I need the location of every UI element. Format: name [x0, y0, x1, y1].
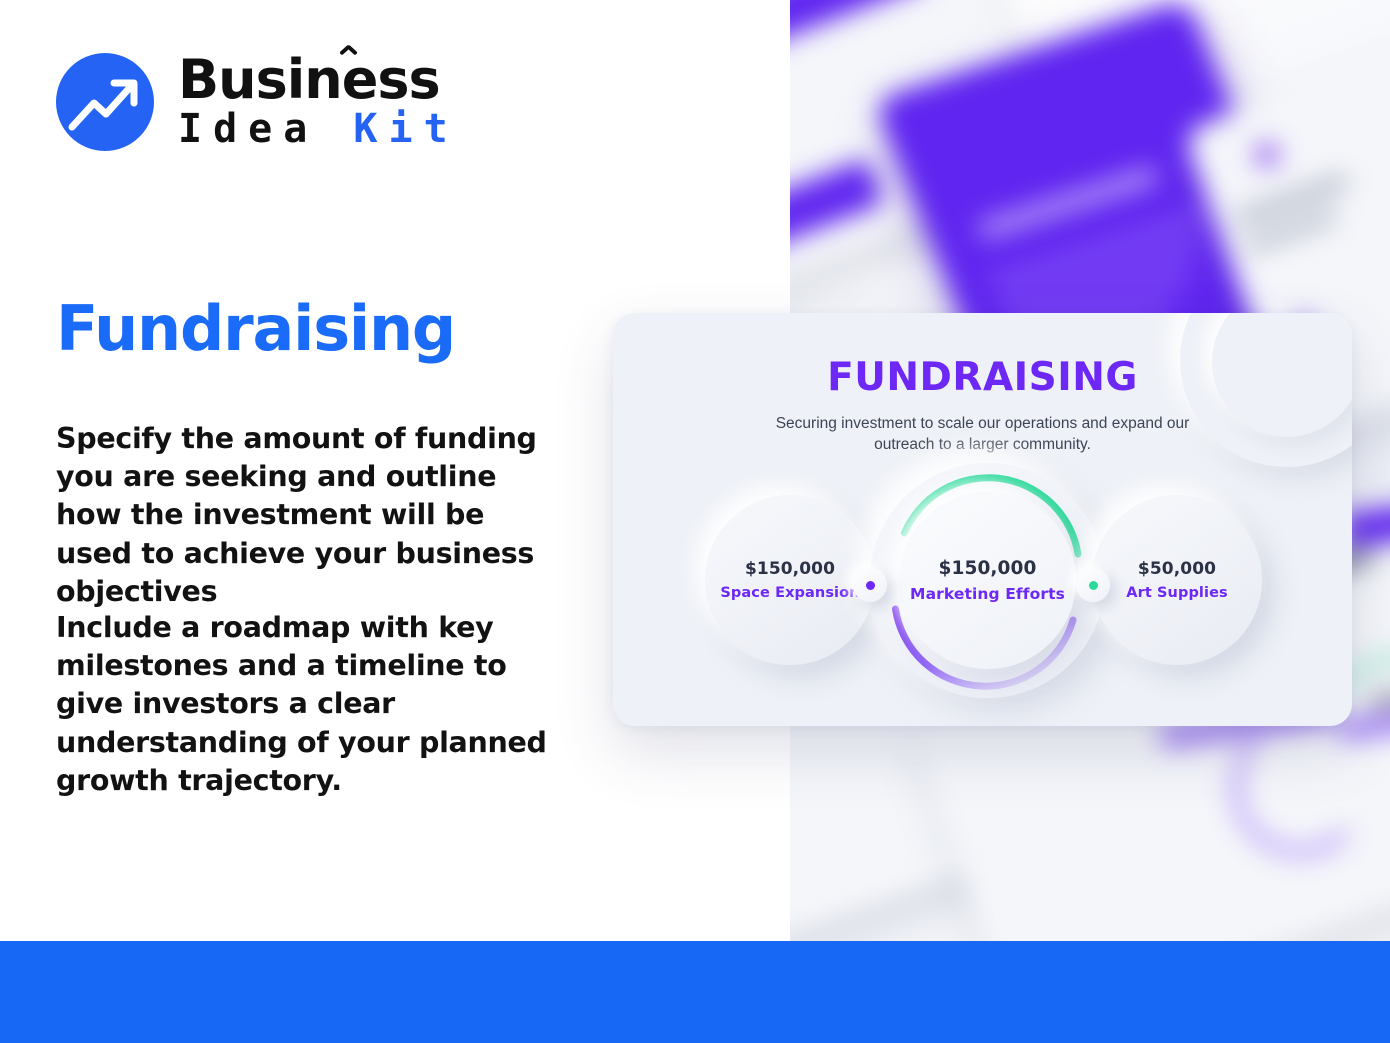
- footer-band: [0, 941, 1390, 1043]
- fundraising-panel: FUNDRAISING Securing investment to scale…: [613, 313, 1352, 726]
- body-paragraph-2: Include a roadmap with key milestones an…: [56, 609, 566, 800]
- connector-knob-right[interactable]: [1076, 568, 1110, 602]
- mockup-text-bar: [977, 167, 1159, 239]
- slide-root: Business Idea Kit Fundraising Specify th…: [0, 0, 1390, 1043]
- funding-label: Space Expansion: [720, 585, 859, 601]
- brand-name-line1: Business: [178, 54, 459, 106]
- mockup-dot: [1253, 141, 1281, 169]
- funding-amount: $150,000: [745, 559, 835, 579]
- brand-name-line1-text: Business: [178, 48, 440, 111]
- connector-dot-purple-icon: [866, 581, 875, 590]
- funding-circle-right[interactable]: $50,000 Art Supplies: [1092, 495, 1262, 665]
- brand-name-idea: Idea: [178, 106, 318, 152]
- brand-name-line2: Idea Kit: [178, 108, 459, 150]
- growth-arrow-circle-icon: [56, 53, 154, 151]
- funding-circle-left[interactable]: $150,000 Space Expansion: [705, 495, 875, 665]
- brand-logo[interactable]: Business Idea Kit: [56, 53, 459, 151]
- funding-label: Art Supplies: [1126, 585, 1227, 601]
- connector-knob-left[interactable]: [853, 568, 887, 602]
- brand-name-kit: Kit: [353, 106, 458, 152]
- funding-label: Marketing Efforts: [910, 585, 1065, 603]
- page-title: Fundraising: [56, 296, 455, 361]
- center-inner-disc: $150,000 Marketing Efforts: [899, 492, 1076, 669]
- body-paragraph-1: Specify the amount of funding you are se…: [56, 420, 566, 611]
- mockup-accent-bar: [790, 158, 884, 257]
- mockup-accent-bar: [790, 0, 928, 72]
- funding-circle-center[interactable]: $150,000 Marketing Efforts: [870, 463, 1105, 698]
- funding-amount: $50,000: [1138, 559, 1216, 579]
- caret-accent-icon: [339, 43, 357, 55]
- brand-wordmark: Business Idea Kit: [178, 54, 459, 150]
- funding-amount: $150,000: [939, 558, 1037, 579]
- connector-dot-green-icon: [1089, 581, 1098, 590]
- funding-circles-cluster: $150,000 Space Expansion: [613, 313, 1352, 726]
